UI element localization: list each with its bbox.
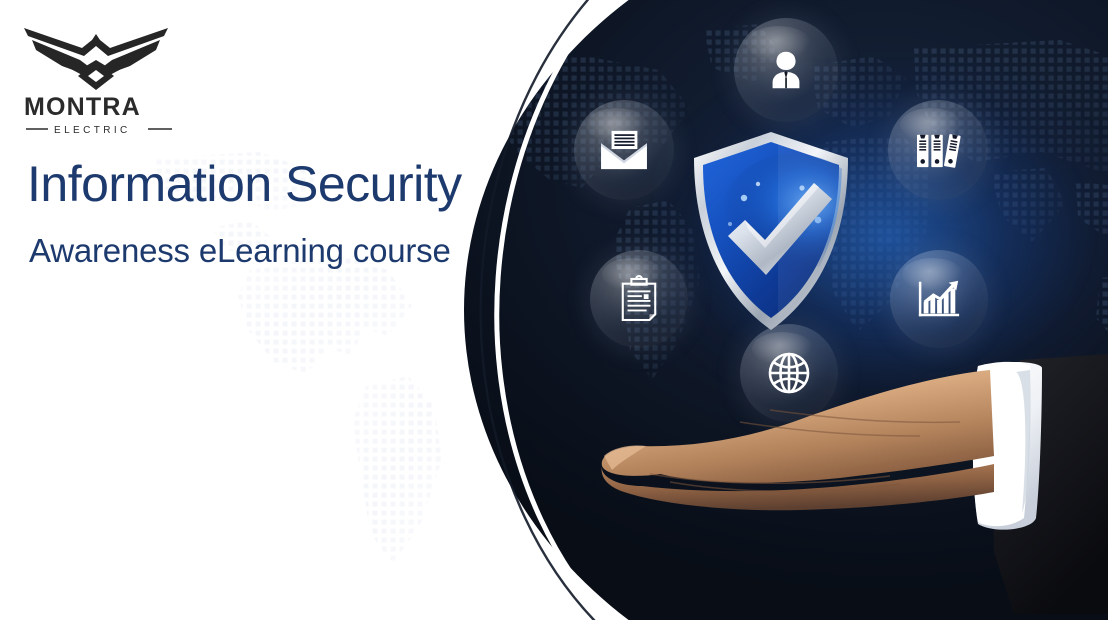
brand-logo: MONTRA ELECTRIC [22, 22, 202, 136]
bubble-clipboard[interactable] [590, 250, 688, 348]
email-envelope-icon [599, 128, 649, 172]
user-person-icon [763, 47, 809, 93]
clipboard-icon [618, 275, 660, 323]
brand-wordmark: MONTRA ELECTRIC [24, 94, 176, 136]
security-shield-check-icon [686, 128, 856, 338]
brand-tagline-text: ELECTRIC [54, 125, 131, 136]
bubble-archive-binders[interactable] [888, 100, 988, 200]
dotted-world-map-light [120, 150, 540, 580]
eagle-wings-mark-icon [22, 22, 170, 90]
open-palm-hand [590, 352, 1108, 620]
growth-chart-icon [915, 276, 963, 322]
left-content-panel: MONTRA ELECTRIC Information Security Awa… [0, 0, 560, 620]
brand-name-text: MONTRA [24, 94, 141, 121]
archive-binders-icon [914, 129, 962, 171]
page-subtitle: Awareness eLearning course [29, 229, 451, 273]
slide-canvas: MONTRA ELECTRIC Information Security Awa… [0, 0, 1108, 620]
bubble-email[interactable] [574, 100, 674, 200]
page-title: Information Security [27, 154, 462, 214]
bubble-user-person[interactable] [734, 18, 838, 122]
bubble-growth-chart[interactable] [890, 250, 988, 348]
